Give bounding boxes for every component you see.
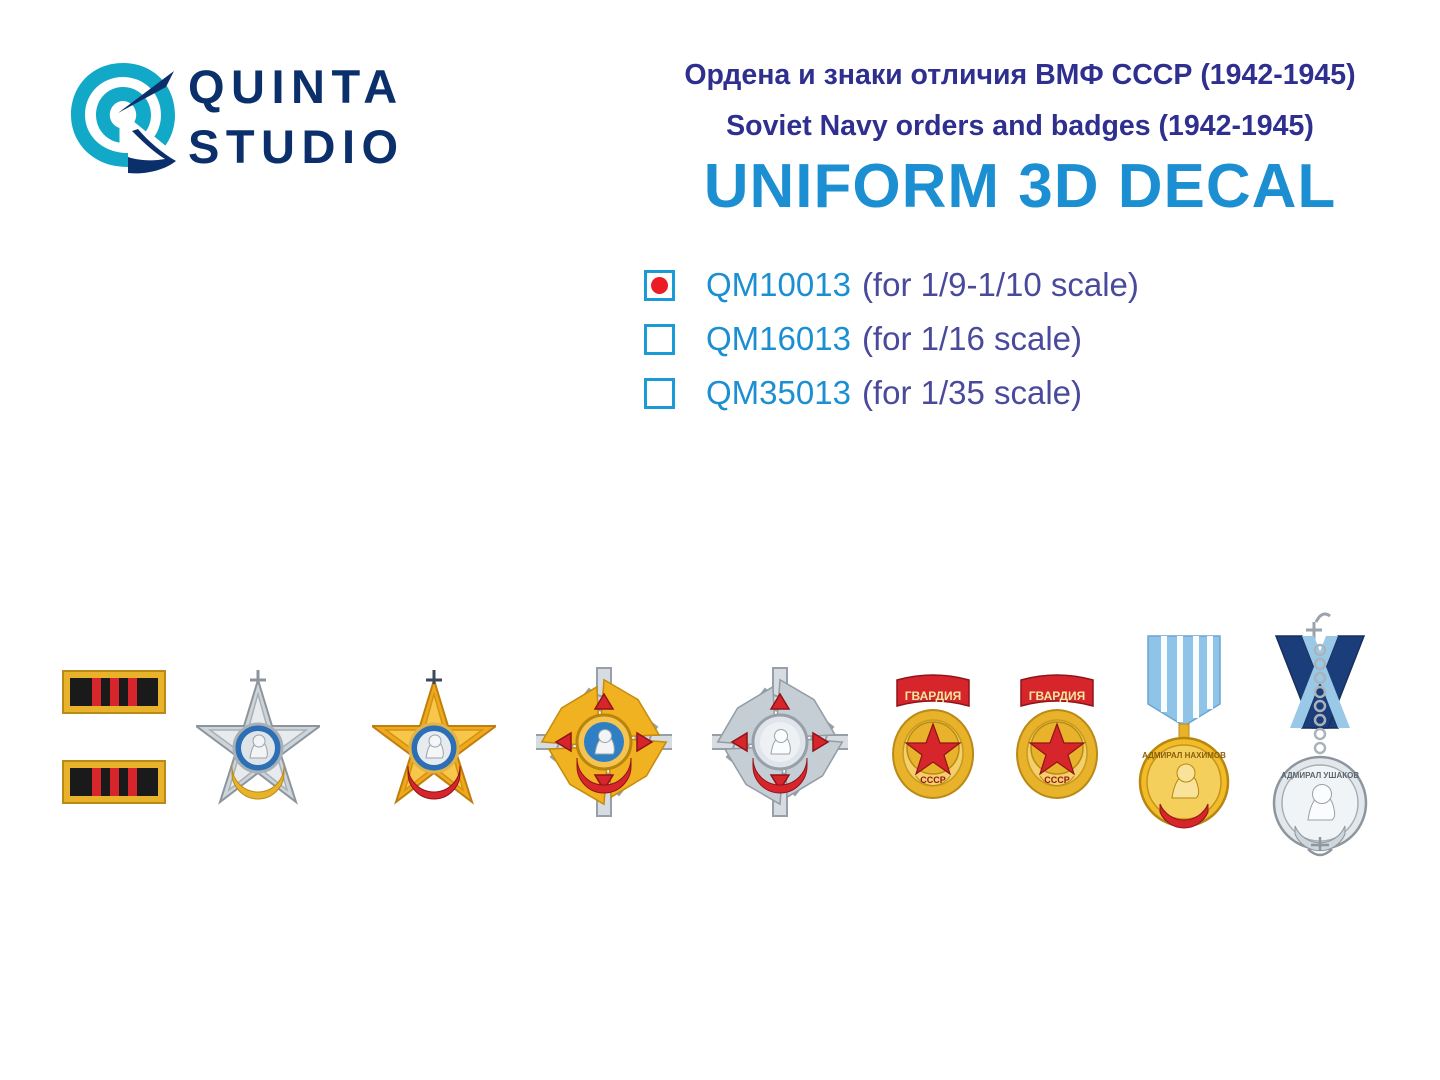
- medal-of-nakhimov: АДМИРАЛ НАХИМОВ: [1124, 620, 1244, 850]
- checkbox-icon[interactable]: [644, 324, 675, 355]
- medal-nakhimov-label-top: АДМИРАЛ НАХИМОВ: [1142, 751, 1226, 760]
- variant-code: QM35013: [706, 374, 851, 412]
- ribbon-bar-black-red-top: [62, 670, 166, 714]
- product-type-title: UNIFORM 3D DECAL: [640, 152, 1400, 222]
- variant-row-qm10013[interactable]: QM10013 (for 1/9-1/10 scale): [644, 258, 1404, 312]
- variant-scale: (for 1/16 scale): [862, 320, 1082, 358]
- title-english: Soviet Navy orders and badges (1942-1945…: [640, 109, 1400, 143]
- variant-row-qm16013[interactable]: QM16013 (for 1/16 scale): [644, 312, 1404, 366]
- decal-instruction-sheet: QUINTA STUDIO Ордена и знаки отличия ВМФ…: [0, 0, 1440, 1080]
- guards-badge-label: ГВАРДИЯ: [905, 689, 962, 703]
- guards-badge-label: ГВАРДИЯ: [1029, 689, 1086, 703]
- title-block: Ордена и знаки отличия ВМФ СССР (1942-19…: [640, 58, 1400, 222]
- variant-scale: (for 1/9-1/10 scale): [862, 266, 1139, 304]
- decal-items-row: ГВАРДИЯ СССР ГВАРДИЯ: [0, 610, 1440, 930]
- order-of-ushakov-1st-class: [196, 668, 320, 814]
- brand-logo: QUINTA STUDIO: [66, 55, 506, 185]
- guards-badge-naval-red-2: ГВАРДИЯ СССР: [1004, 672, 1110, 812]
- variant-list: QM10013 (for 1/9-1/10 scale) QM16013 (fo…: [644, 258, 1404, 420]
- variant-scale: (for 1/35 scale): [862, 374, 1082, 412]
- brand-name-line2: STUDIO: [188, 119, 508, 175]
- medal-of-ushakov: АДМИРАЛ УШАКОВ: [1250, 610, 1390, 860]
- guards-badge-naval-red: ГВАРДИЯ СССР: [880, 672, 986, 812]
- brand-name-line1: QUINTA: [188, 59, 508, 115]
- title-russian: Ордена и знаки отличия ВМФ СССР (1942-19…: [640, 58, 1400, 92]
- checkbox-icon[interactable]: [644, 378, 675, 409]
- quinta-swoosh-logo-icon: [66, 57, 178, 175]
- order-of-nakhimov-2nd-class: [712, 662, 848, 818]
- brand-wordmark: QUINTA STUDIO: [188, 59, 508, 175]
- checkbox-selected-icon[interactable]: [644, 270, 675, 301]
- guards-badge-sub: СССР: [1044, 775, 1070, 785]
- variant-code: QM10013: [706, 266, 851, 304]
- ribbon-bar-black-red-bottom: [62, 760, 166, 804]
- variant-code: QM16013: [706, 320, 851, 358]
- medal-ushakov-label-top: АДМИРАЛ УШАКОВ: [1281, 771, 1359, 780]
- variant-row-qm35013[interactable]: QM35013 (for 1/35 scale): [644, 366, 1404, 420]
- guards-badge-sub: СССР: [920, 775, 946, 785]
- order-of-ushakov-2nd-class: [372, 668, 496, 814]
- order-of-nakhimov-1st-class: [536, 662, 672, 818]
